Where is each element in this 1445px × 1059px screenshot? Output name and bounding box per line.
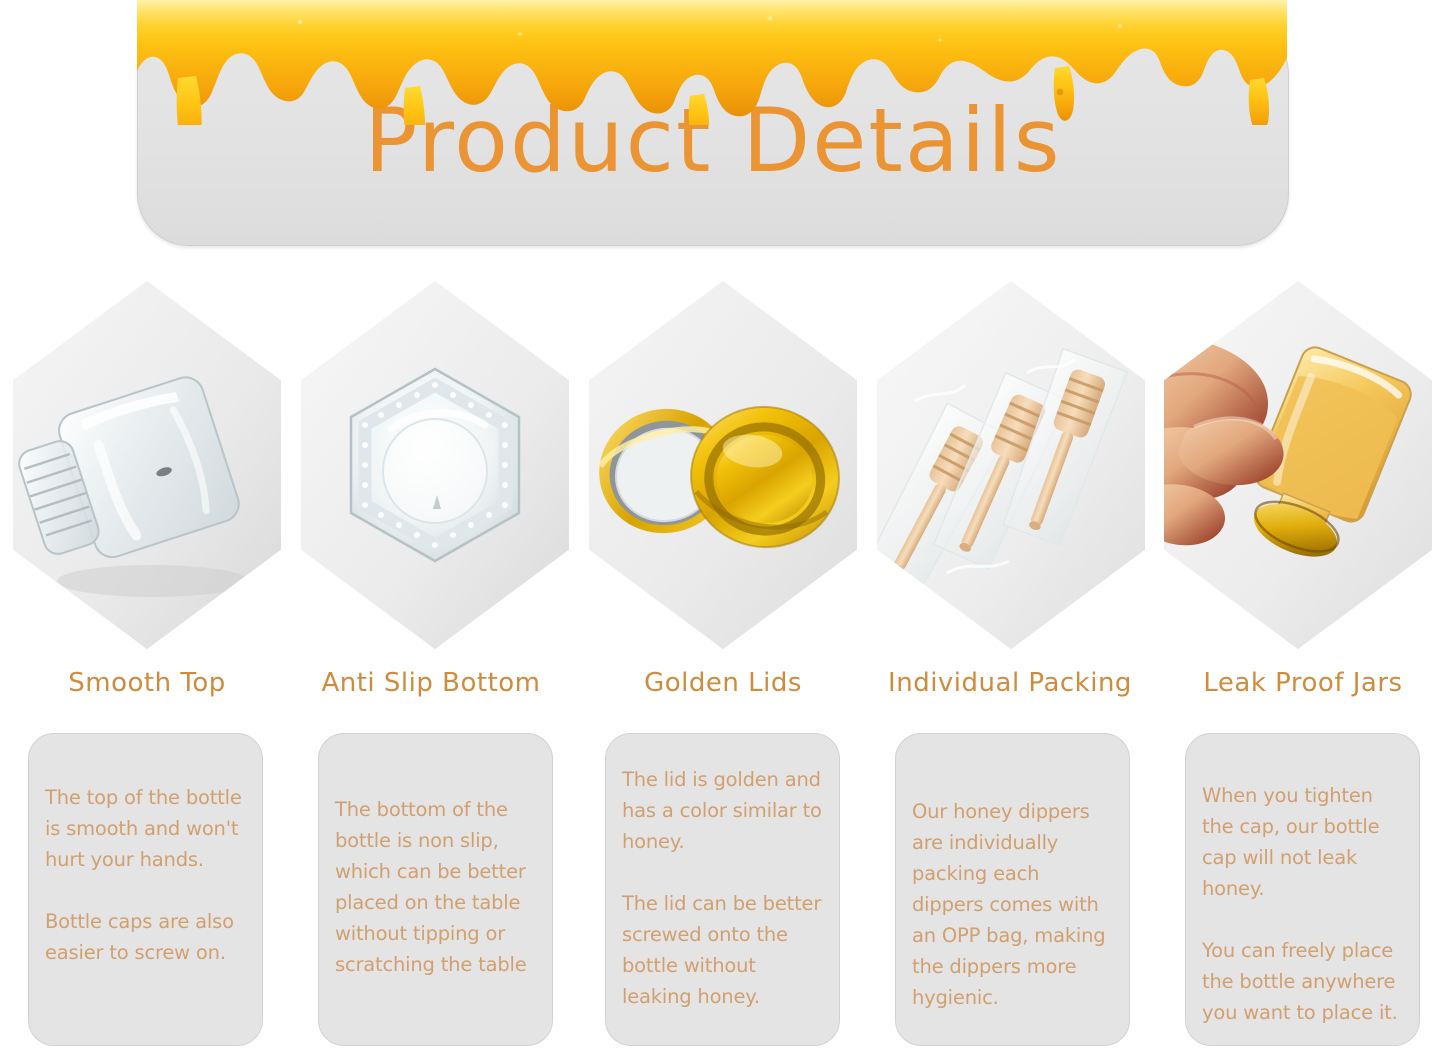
feature-paragraph: Our honey dippers are individually packi… — [912, 796, 1113, 1013]
feature-paragraph: The top of the bottle is smooth and won'… — [45, 782, 246, 875]
feature-paragraph: The lid is golden and has a color simila… — [622, 764, 823, 857]
feature-paragraph: Bottle caps are also easier to screw on. — [45, 906, 246, 968]
feature-image-smooth-top — [13, 281, 281, 649]
feature-label-smooth-top: Smooth Top — [0, 668, 297, 698]
feature-label-row: Smooth Top Anti Slip Bottom Golden Lids … — [0, 668, 1445, 708]
feature-description-row: The top of the bottle is smooth and won'… — [0, 733, 1445, 1048]
feature-paragraph: The lid can be better screwed onto the b… — [622, 888, 823, 1012]
feature-image-golden-lids — [589, 281, 857, 649]
feature-paragraph: When you tighten the cap, our bottle cap… — [1202, 780, 1403, 904]
product-details-infographic: Product Details — [0, 0, 1445, 1059]
page-title: Product Details — [138, 97, 1288, 185]
feature-image-individual-packing — [877, 281, 1145, 649]
feature-paragraph: You can freely place the bottle anywhere… — [1202, 935, 1403, 1028]
feature-card-anti-slip-bottom: The bottom of the bottle is non slip, wh… — [318, 733, 553, 1046]
feature-image-anti-slip-bottom — [301, 281, 569, 649]
feature-image-row — [0, 281, 1445, 651]
feature-paragraph: The bottom of the bottle is non slip, wh… — [335, 794, 536, 980]
feature-label-golden-lids: Golden Lids — [573, 668, 873, 698]
feature-card-golden-lids: The lid is golden and has a color simila… — [605, 733, 840, 1046]
feature-card-individual-packing: Our honey dippers are individually packi… — [895, 733, 1130, 1046]
feature-label-individual-packing: Individual Packing — [860, 668, 1160, 698]
title-banner: Product Details — [137, 22, 1289, 246]
feature-label-anti-slip-bottom: Anti Slip Bottom — [281, 668, 581, 698]
feature-image-leak-proof-jars — [1164, 281, 1432, 649]
feature-card-leak-proof-jars: When you tighten the cap, our bottle cap… — [1185, 733, 1420, 1046]
feature-card-smooth-top: The top of the bottle is smooth and won'… — [28, 733, 263, 1046]
feature-label-leak-proof-jars: Leak Proof Jars — [1153, 668, 1445, 698]
